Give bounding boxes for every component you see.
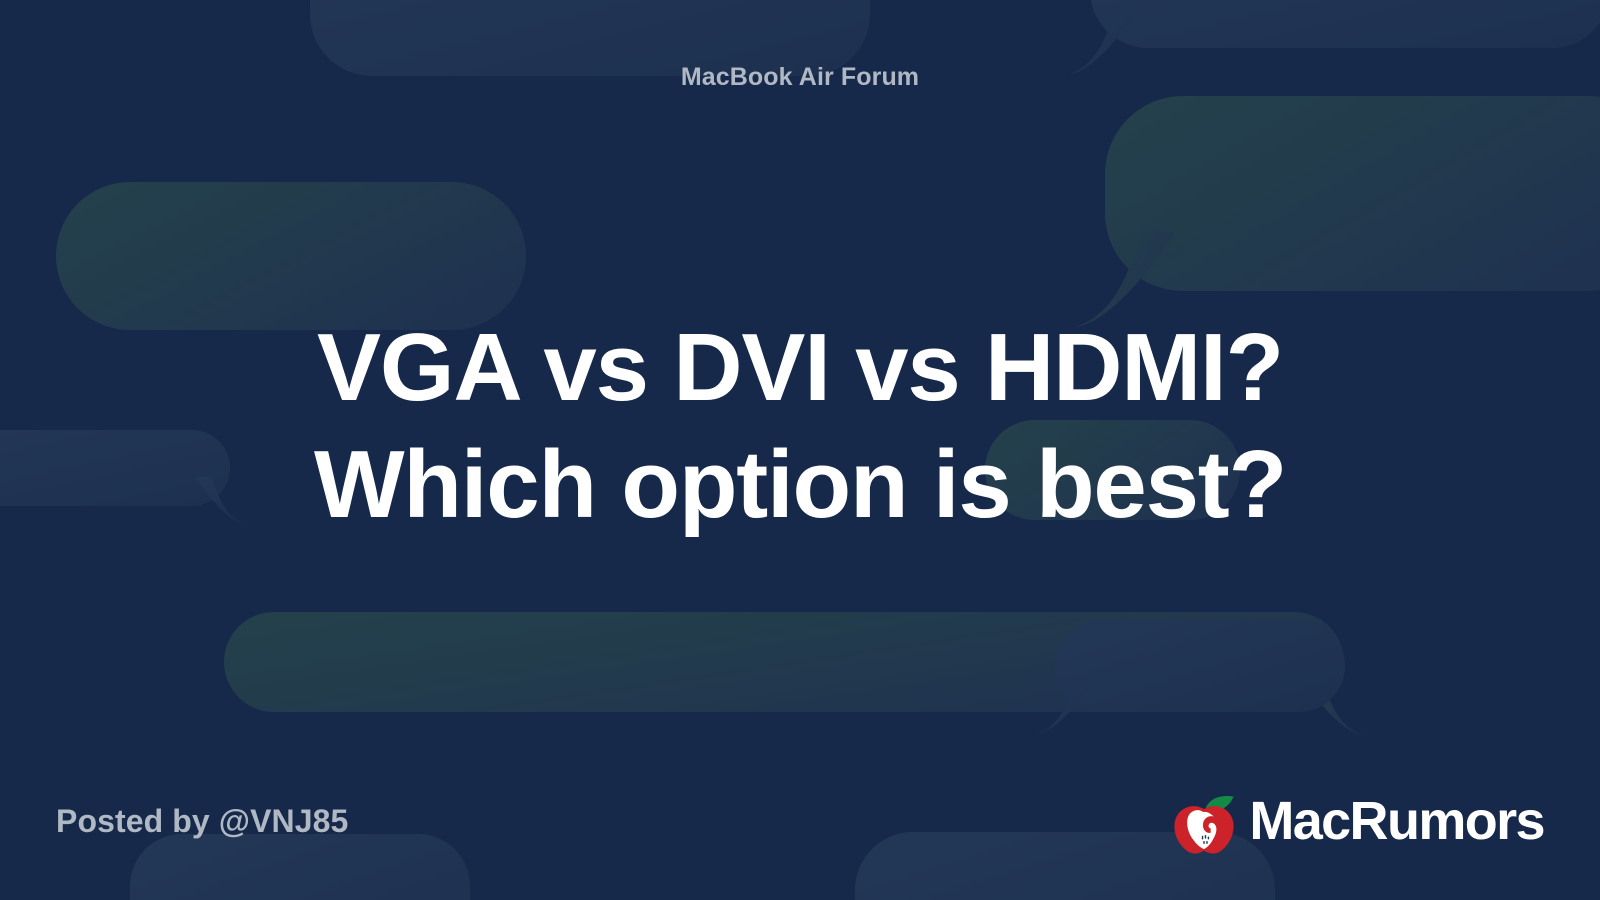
page-title: VGA vs DVI vs HDMI? Which option is best… bbox=[210, 309, 1390, 543]
macrumors-brand: MacRumors bbox=[1167, 784, 1544, 858]
post-title-container: VGA vs DVI vs HDMI? Which option is best… bbox=[56, 66, 1544, 786]
social-share-card: MacBook Air Forum VGA vs DVI vs HDMI? Wh… bbox=[0, 0, 1600, 900]
macrumors-apple-logo-icon bbox=[1167, 784, 1241, 858]
card-footer: Posted by @VNJ85 bbox=[56, 786, 1544, 856]
macrumors-wordmark: MacRumors bbox=[1249, 794, 1544, 848]
card-content: MacBook Air Forum VGA vs DVI vs HDMI? Wh… bbox=[0, 0, 1600, 900]
posted-by-label: Posted by @VNJ85 bbox=[56, 803, 348, 840]
